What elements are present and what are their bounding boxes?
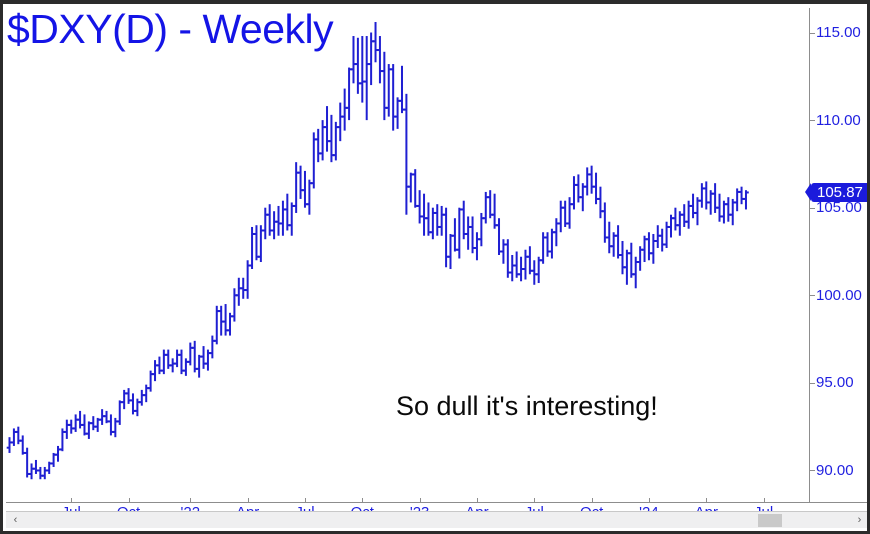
- y-tick-mark: [809, 383, 815, 384]
- x-axis-tick-mark: [305, 498, 306, 503]
- y-tick-label: 115.00: [816, 24, 861, 41]
- x-axis-tick-mark: [190, 498, 191, 503]
- scroll-right-arrow-icon[interactable]: ›: [852, 512, 867, 528]
- x-axis-tick-mark: [129, 498, 130, 503]
- y-axis[interactable]: 115.00110.00105.00100.0095.0090.00105.87: [809, 8, 870, 502]
- x-axis-tick-mark: [362, 498, 363, 503]
- x-axis-tick-mark: [248, 498, 249, 503]
- x-axis-tick-mark: [420, 498, 421, 503]
- y-tick-label: 100.00: [816, 287, 862, 304]
- y-axis-tick: 110.00: [809, 112, 861, 129]
- y-tick-label: 95.00: [816, 374, 854, 391]
- scroll-left-arrow-icon[interactable]: ‹: [8, 512, 23, 528]
- last-price-tag: 105.87: [811, 183, 867, 202]
- x-axis-tick-mark: [534, 498, 535, 503]
- x-axis-tick-mark: [592, 498, 593, 503]
- y-axis-tick: 100.00: [809, 287, 862, 304]
- y-tick-mark: [809, 295, 815, 296]
- ohlc-bars: [6, 8, 809, 502]
- y-tick-mark: [809, 208, 815, 209]
- y-tick-mark: [809, 120, 815, 121]
- horizontal-scrollbar[interactable]: ‹ ›: [6, 511, 870, 528]
- x-axis-tick-mark: [764, 498, 765, 503]
- x-axis-tick-mark: [649, 498, 650, 503]
- chart-window: $DXY(D) - Weekly So dull it's interestin…: [0, 0, 870, 534]
- y-axis-tick: 95.00: [809, 374, 854, 391]
- chart-annotation: So dull it's interesting!: [396, 391, 658, 422]
- y-tick-mark: [809, 33, 815, 34]
- y-axis-tick: 115.00: [809, 24, 861, 41]
- scrollbar-thumb[interactable]: [758, 514, 782, 527]
- y-tick-mark: [809, 470, 815, 471]
- x-axis-tick-mark: [71, 498, 72, 503]
- y-axis-tick: 90.00: [809, 462, 854, 479]
- price-plot-area[interactable]: So dull it's interesting!: [6, 8, 809, 502]
- x-axis-tick-mark: [477, 498, 478, 503]
- x-axis-tick-mark: [706, 498, 707, 503]
- y-tick-label: 90.00: [816, 462, 854, 479]
- y-tick-label: 110.00: [816, 112, 861, 129]
